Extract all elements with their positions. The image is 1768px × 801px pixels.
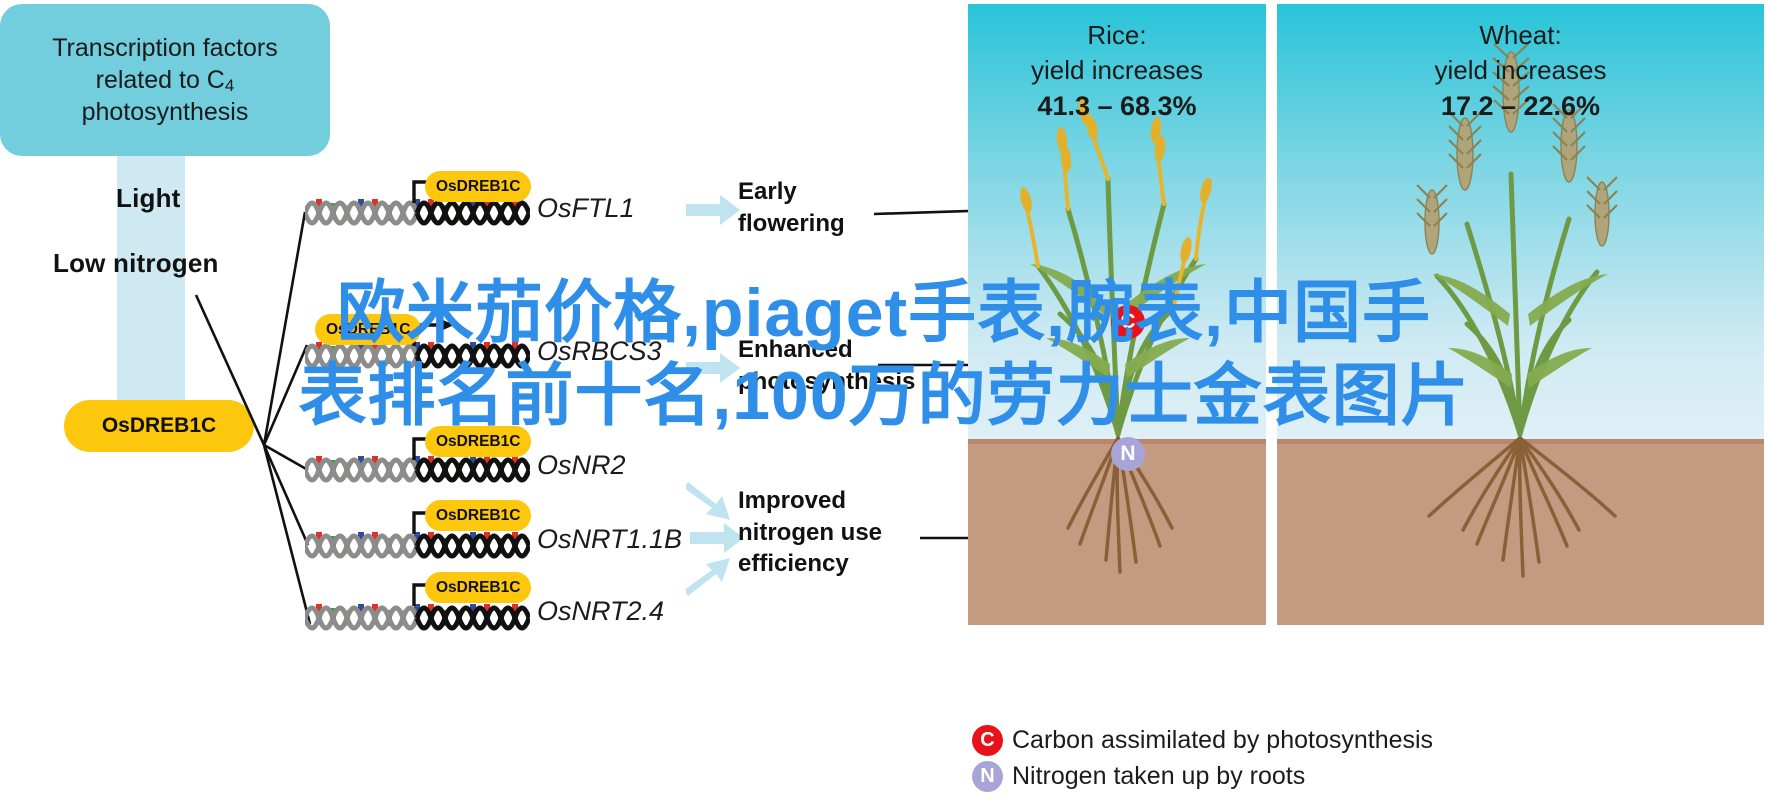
carbon-marker-label: C — [1120, 310, 1135, 334]
legend: C Carbon assimilated by photosynthesis N… — [972, 722, 1433, 794]
outcome-line: flowering — [738, 210, 845, 237]
rice-yield-range: 41.3 – 68.3% — [968, 89, 1266, 125]
gene-row-osnrt24: OsDREB1C OsNRT2.4 — [305, 580, 705, 650]
rice-crop-label: Rice: — [1087, 20, 1146, 50]
outcome-improved-nue: Improved nitrogen use efficiency — [738, 485, 882, 580]
legend-nitrogen-icon: N — [972, 761, 1003, 792]
arrow-to-improved-nue-top-icon — [686, 478, 742, 522]
gene-badge-label: OsDREB1C — [436, 507, 520, 525]
arrow-to-improved-nue-bottom-icon — [686, 556, 742, 600]
legend-nitrogen-text: Nitrogen taken up by roots — [1012, 762, 1305, 791]
tf-line3: photosynthesis — [82, 98, 249, 126]
legend-nitrogen-symbol: N — [980, 765, 994, 788]
outcome-early-flowering: Early flowering — [738, 176, 845, 239]
gene-badge-label: OsDREB1C — [436, 433, 520, 451]
arrow-to-enhanced-photosynthesis-icon — [686, 348, 742, 388]
gene-badge-osnrt11b: OsDREB1C — [425, 500, 531, 531]
tf-c4-subscript: 4 — [225, 76, 234, 95]
outcome-line: nitrogen use — [738, 519, 882, 546]
gene-name-osnr2: OsNR2 — [537, 450, 626, 481]
condition-light-label: Light — [116, 183, 181, 214]
gene-row-osnr2: OsDREB1C OsNR2 — [305, 432, 665, 502]
wheat-crop-label: Wheat: — [1479, 20, 1561, 50]
nitrogen-marker-icon: N — [1111, 437, 1145, 471]
gene-name-osrbcs3: OsRBCS3 — [537, 336, 662, 367]
arrow-to-early-flowering-icon — [686, 190, 742, 230]
gene-badge-osrbcs3: OsDREB1C — [315, 314, 421, 345]
outcome-line: photosynthesis — [738, 368, 915, 395]
gene-row-osftl1: OsDREB1C OsFTL1 — [305, 175, 665, 245]
condition-low-nitrogen-label: Low nitrogen — [53, 248, 219, 279]
outcome-line: Early — [738, 178, 797, 205]
gene-name-osnrt11b: OsNRT1.1B — [537, 524, 682, 555]
outcome-line: Enhanced — [738, 336, 853, 363]
legend-carbon-icon: C — [972, 725, 1003, 756]
tf-line1: Transcription factors — [52, 34, 278, 62]
gene-badge-label: OsDREB1C — [326, 321, 410, 339]
outcome-line: Improved — [738, 487, 846, 514]
wheat-panel-caption: Wheat: yield increases 17.2 – 22.6% — [1277, 18, 1764, 125]
outcome-enhanced-photosynthesis: Enhanced photosynthesis — [738, 334, 915, 397]
nitrogen-marker-label: N — [1120, 442, 1135, 466]
central-osdreb1c-label: OsDREB1C — [102, 414, 216, 438]
legend-carbon-text: Carbon assimilated by photosynthesis — [1012, 726, 1433, 755]
gene-name-osnrt24: OsNRT2.4 — [537, 596, 664, 627]
rice-panel-caption: Rice: yield increases 41.3 – 68.3% — [968, 18, 1266, 125]
gene-badge-label: OsDREB1C — [436, 579, 520, 597]
gene-badge-osnrt24: OsDREB1C — [425, 572, 531, 603]
legend-row-carbon: C Carbon assimilated by photosynthesis — [972, 722, 1433, 758]
outcome-line: efficiency — [738, 550, 849, 577]
rice-measure-label: yield increases — [1031, 55, 1203, 85]
central-osdreb1c-badge: OsDREB1C — [64, 400, 254, 452]
wheat-panel: Wheat: yield increases 17.2 – 22.6% — [1277, 4, 1764, 625]
gene-name-osftl1: OsFTL1 — [537, 193, 635, 224]
transcription-factors-box: Transcription factors related to C4 phot… — [0, 4, 330, 156]
gene-row-osrbcs3: OsDREB1C OsRBCS3 — [305, 318, 665, 388]
gene-badge-osnr2: OsDREB1C — [425, 426, 531, 457]
wheat-measure-label: yield increases — [1435, 55, 1607, 85]
carbon-marker-icon: C — [1111, 305, 1145, 339]
legend-carbon-symbol: C — [980, 729, 994, 752]
gene-badge-label: OsDREB1C — [436, 178, 520, 196]
gene-row-osnrt11b: OsDREB1C OsNRT1.1B — [305, 508, 705, 578]
gene-badge-osftl1: OsDREB1C — [425, 171, 531, 202]
transcription-factors-text: Transcription factors related to C4 phot… — [38, 32, 292, 129]
legend-row-nitrogen: N Nitrogen taken up by roots — [972, 758, 1433, 794]
wheat-yield-range: 17.2 – 22.6% — [1277, 89, 1764, 125]
tf-line2: related to C — [96, 66, 225, 94]
